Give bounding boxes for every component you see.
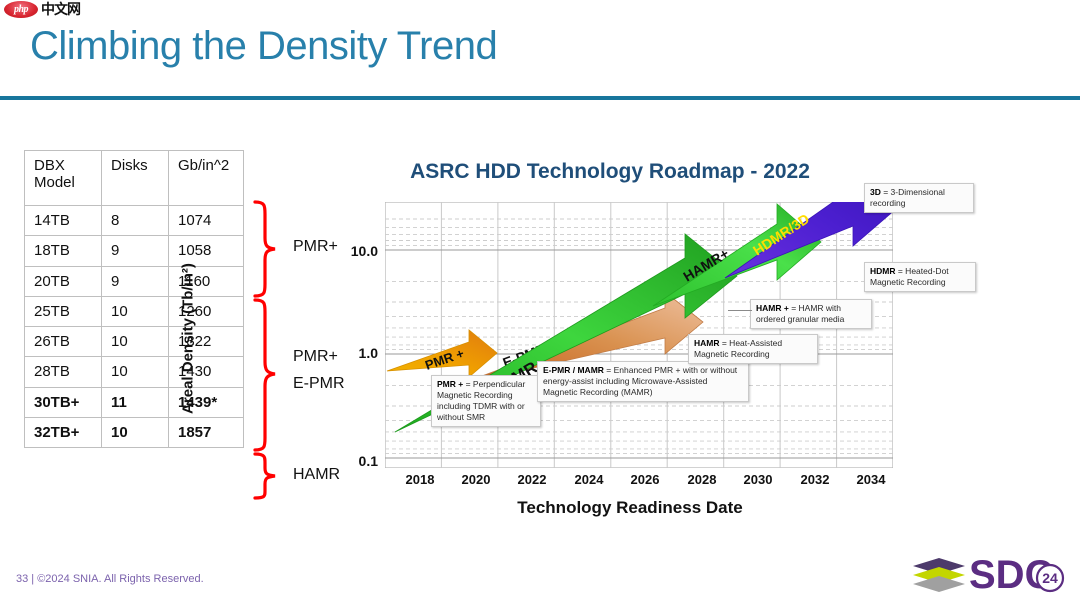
column-header-disks: Disks — [102, 151, 169, 206]
cell-model: 30TB+ — [25, 387, 102, 417]
x-tick-2028: 2028 — [678, 472, 726, 487]
callout-term: HAMR — [694, 338, 722, 348]
x-tick-2030: 2030 — [734, 472, 782, 487]
watermark-chinese-text: 中文网 — [41, 3, 80, 17]
x-tick-2022: 2022 — [508, 472, 556, 487]
callout-term: 3D — [870, 187, 883, 197]
callout-term: PMR + — [437, 379, 466, 389]
callout-epmr-mamr: E-PMR / MAMR = Enhanced PMR + with or wi… — [537, 361, 749, 402]
cell-disks: 10 — [102, 327, 169, 357]
cell-model: 25TB — [25, 296, 102, 326]
cell-model: 32TB+ — [25, 417, 102, 447]
cell-disks: 10 — [102, 417, 169, 447]
cell-disks: 8 — [102, 206, 169, 236]
chart-y-axis-label: Areal Density (Tb/in²) — [180, 189, 197, 489]
table-row: 25TB101260 — [25, 296, 244, 326]
y-tick-10: 10.0 — [332, 243, 378, 259]
callout-term: E-PMR / MAMR — [543, 365, 606, 375]
x-tick-2032: 2032 — [791, 472, 839, 487]
table-row: 18TB91058 — [25, 236, 244, 266]
cell-model: 28TB — [25, 357, 102, 387]
page-title: Climbing the Density Trend — [30, 24, 497, 69]
x-tick-2026: 2026 — [621, 472, 669, 487]
y-tick-1: 1.0 — [332, 345, 378, 361]
table-header-row: DBX Model Disks Gb/in^2 — [25, 151, 244, 206]
chart-title: ASRC HDD Technology Roadmap - 2022 — [330, 160, 890, 184]
table-row: 26TB101322 — [25, 327, 244, 357]
cell-disks: 9 — [102, 236, 169, 266]
footer-copyright: 33 | ©2024 SNIA. All Rights Reserved. — [16, 573, 204, 585]
cell-disks: 9 — [102, 266, 169, 296]
x-tick-2020: 2020 — [452, 472, 500, 487]
php-logo-icon: php — [4, 1, 38, 18]
cell-model: 14TB — [25, 206, 102, 236]
table-row: 30TB+111439* — [25, 387, 244, 417]
x-tick-2018: 2018 — [396, 472, 444, 487]
table-row: 28TB101430 — [25, 357, 244, 387]
callout-term: HDMR — [870, 266, 898, 276]
chart-x-axis-label: Technology Readiness Date — [370, 498, 890, 518]
callout-hdmr: HDMR = Heated-Dot Magnetic Recording — [864, 262, 976, 292]
roadmap-chart: ASRC HDD Technology Roadmap - 2022 Areal… — [330, 150, 1070, 530]
title-divider — [0, 96, 1080, 100]
callout-term: HAMR + — [756, 303, 791, 313]
leader-line-hamr-plus — [728, 310, 752, 311]
sdc-logo-year: 24 — [1042, 570, 1058, 586]
column-header-model: DBX Model — [25, 151, 102, 206]
table-row: 14TB81074 — [25, 206, 244, 236]
x-tick-2034: 2034 — [847, 472, 895, 487]
callout-hamr: HAMR = Heat-Assisted Magnetic Recording — [688, 334, 818, 364]
callout-pmr-plus: PMR + = Perpendicular Magnetic Recording… — [431, 375, 541, 427]
cell-model: 26TB — [25, 327, 102, 357]
sdc-logo-icon: SDC 24 — [905, 550, 1065, 596]
cell-model: 18TB — [25, 236, 102, 266]
y-tick-0p1: 0.1 — [332, 453, 378, 469]
callout-hamr-plus: HAMR + = HAMR with ordered granular medi… — [750, 299, 872, 329]
density-table: DBX Model Disks Gb/in^2 14TB81074 18TB91… — [24, 150, 244, 448]
callout-3d: 3D = 3-Dimensional recording — [864, 183, 974, 213]
cell-disks: 10 — [102, 296, 169, 326]
x-tick-2024: 2024 — [565, 472, 613, 487]
watermark: php 中文网 — [4, 1, 80, 18]
sdc-logo: SDC 24 — [905, 550, 1065, 601]
cell-disks: 10 — [102, 357, 169, 387]
table-row: 20TB91160 — [25, 266, 244, 296]
table-row: 32TB+101857 — [25, 417, 244, 447]
cell-disks: 11 — [102, 387, 169, 417]
cell-model: 20TB — [25, 266, 102, 296]
